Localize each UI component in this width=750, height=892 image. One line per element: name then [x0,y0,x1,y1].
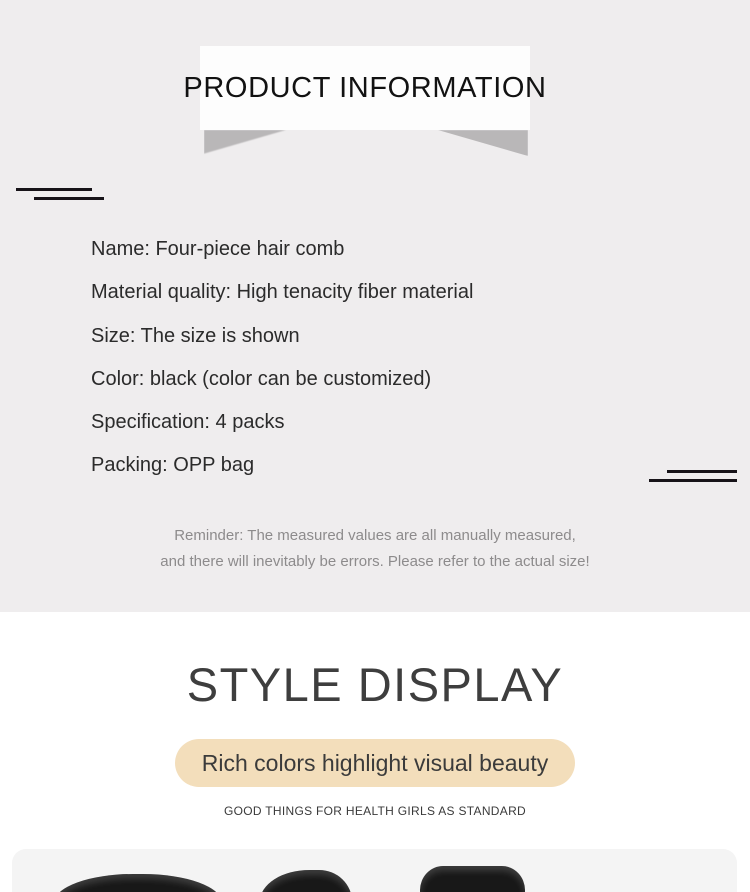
decorative-rule-right-lower [649,479,737,482]
product-information-title: PRODUCT INFORMATION [200,46,530,130]
style-display-badge: Rich colors highlight visual beauty [175,739,575,787]
spec-size: Size: The size is shown [91,315,651,358]
spec-name: Name: Four-piece hair comb [91,228,651,271]
spec-packing: Packing: OPP bag [91,444,651,487]
decorative-rule-left-lower [34,197,104,200]
style-display-subtitle: GOOD THINGS FOR HEALTH GIRLS AS STANDARD [0,804,750,818]
product-detail-page: PRODUCT INFORMATION Name: Four-piece hai… [0,0,750,892]
product-information-section: PRODUCT INFORMATION Name: Four-piece hai… [0,0,750,612]
spec-material: Material quality: High tenacity fiber ma… [91,271,651,314]
product-spec-list: Name: Four-piece hair comb Material qual… [91,228,651,488]
product-gallery-panel [12,849,737,892]
reminder-line-2: and there will inevitably be errors. Ple… [0,549,750,575]
decorative-rule-right [649,470,737,482]
product-image-hair-comb-1[interactable] [54,874,222,892]
banner-shadow-flap-left [204,130,294,156]
product-information-banner: PRODUCT INFORMATION [200,46,530,130]
reminder-line-1: Reminder: The measured values are all ma… [0,523,750,549]
spec-specification: Specification: 4 packs [91,401,651,444]
spec-color: Color: black (color can be customized) [91,358,651,401]
banner-shadow-flap-right [438,130,528,156]
decorative-rule-left-upper [16,188,92,191]
measurement-reminder: Reminder: The measured values are all ma… [0,523,750,575]
style-display-heading: STYLE DISPLAY [0,657,750,712]
product-image-hair-comb-3[interactable] [420,866,525,892]
product-image-hair-comb-2[interactable] [260,870,352,892]
decorative-rule-left [16,188,104,200]
decorative-rule-right-upper [667,470,737,473]
